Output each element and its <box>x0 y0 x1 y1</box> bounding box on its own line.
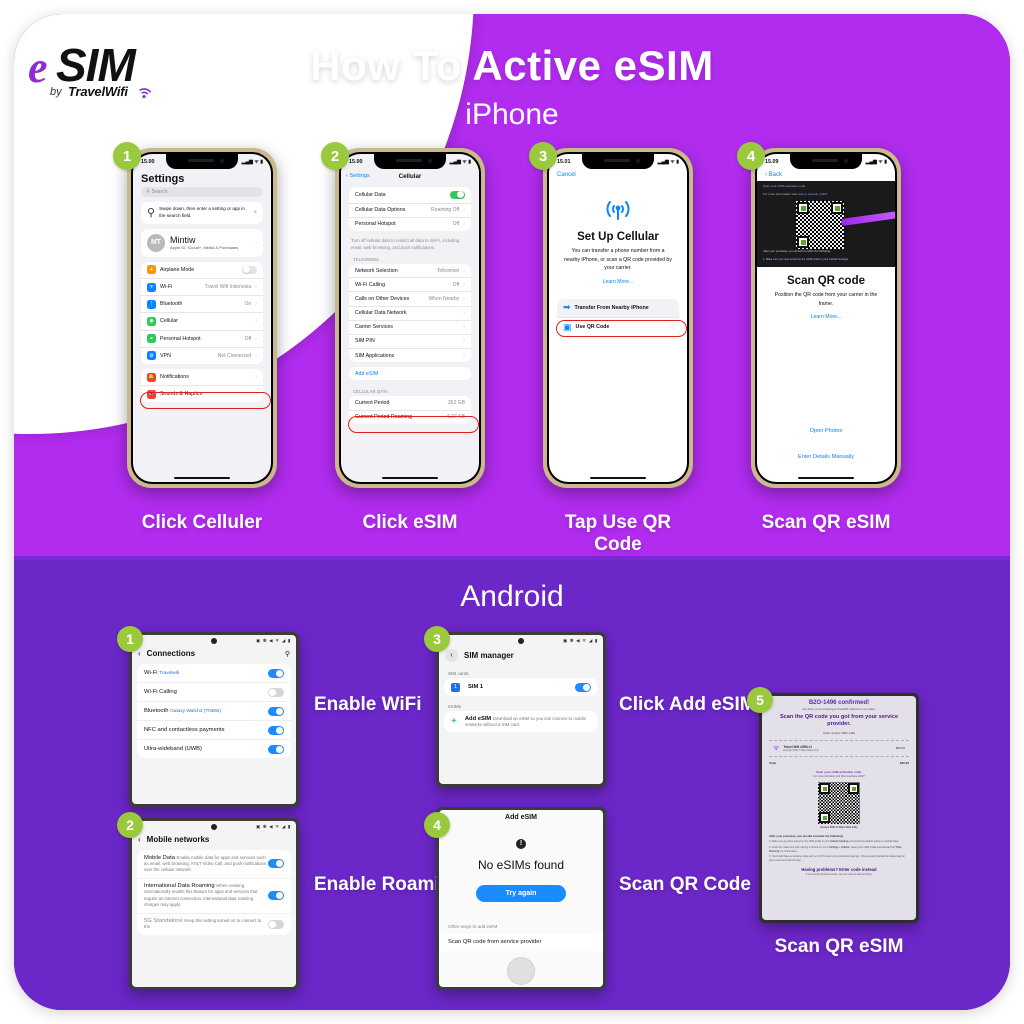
android-status-bar: ▣ ✽ ◀ ᯤ ◢ ▮ <box>132 821 296 832</box>
chevron-right-icon: › <box>255 374 257 380</box>
qr-code-graphic <box>796 201 844 249</box>
row-title: Add eSIM <box>465 716 491 722</box>
step-badge-iphone-1: 1 <box>113 142 141 170</box>
step-badge-iphone-2: 2 <box>321 142 349 170</box>
carrier-section-label: TELKOMSEL <box>341 253 479 264</box>
magnifier-icon: ⚲ <box>147 206 155 219</box>
sim-manager-appbar: ‹ SIM manager <box>439 646 603 668</box>
roaming-toggle[interactable] <box>268 891 284 900</box>
uwb-toggle[interactable] <box>268 745 284 754</box>
chevron-right-icon: › <box>463 282 465 288</box>
info-icon: ! <box>439 839 603 849</box>
mobile-networks-list: Mobile Data Enable mobile data for apps … <box>137 850 291 935</box>
chevron-right-icon: › <box>671 305 673 311</box>
android-step-4-mock: Add eSIM ! No eSIMs found Try again Othe… <box>436 807 606 990</box>
airplane-icon: ✈ <box>147 265 156 274</box>
qr-code-graphic <box>818 782 860 824</box>
cellular-data-card: Cellular Data Cellular Data Options Roam… <box>349 187 471 231</box>
cellular-hint-text: Turn off cellular data to restrict all d… <box>341 236 479 253</box>
notifications-card: 🔔 Notifications › 🔊 Sounds & Haptics › <box>141 369 263 402</box>
other-ways-label: Other ways to add eSIM <box>439 924 603 933</box>
status-icons: ▂▄▆ ᯤ ▮ <box>658 159 679 165</box>
home-indicator <box>382 477 438 480</box>
android-row-wifi-calling[interactable]: Wi-Fi Calling <box>137 683 291 702</box>
hotspot-icon: ⚭ <box>147 334 156 343</box>
row-label: Wi-Fi <box>160 284 201 290</box>
search-tip-card: ⚲ Swipe down, then enter a setting or ap… <box>141 202 263 224</box>
camera-punch-hole <box>518 638 524 644</box>
chevron-right-icon: › <box>255 240 257 246</box>
row-label: SIM PIN <box>355 338 459 344</box>
row-label: Current Period <box>355 400 444 406</box>
status-icons: ▂▄▆ ᯤ ▮ <box>866 159 887 165</box>
setup-cellular-body: You can transfer a phone number from a n… <box>549 243 687 277</box>
iphone-section-title: iPhone <box>14 98 1010 132</box>
step-badge-iphone-4: 4 <box>737 142 765 170</box>
iphone-caption-2: Click eSIM <box>335 512 485 534</box>
qr-caption: Europe 5GB 14 Days Data Only <box>769 826 909 829</box>
row-carrier-services[interactable]: Carrier Services › <box>349 321 471 335</box>
row-label: Notifications <box>160 374 251 380</box>
back-button[interactable]: ‹ Back <box>757 169 895 181</box>
chevron-right-icon: › <box>463 353 465 359</box>
row-title: SIM 1 <box>468 684 483 690</box>
row-title: Bluetooth <box>144 708 169 714</box>
row-value: Off <box>453 221 460 227</box>
settings-row-wifi[interactable]: ᯤ Wi-Fi Travel Wifi Indonesia › <box>141 279 263 296</box>
row-current-period: Current Period 262 GB <box>349 396 471 410</box>
total-label: Total <box>769 761 776 765</box>
5g-standalone-toggle[interactable] <box>268 920 284 929</box>
row-current-period-roaming: Current Period Roaming 6,37 KB <box>349 411 471 424</box>
page-title: How To Active eSIM <box>14 42 1010 90</box>
android-row-5g-standalone[interactable]: 5G Standalone Keep this setting turned o… <box>137 914 291 935</box>
chevron-right-icon: › <box>671 324 673 330</box>
row-label: Current Period Roaming <box>355 414 443 420</box>
step-badge-android-1: 1 <box>117 626 143 652</box>
iphone-caption-4: Scan QR eSIM <box>751 512 901 534</box>
after-purchase-title: After your purchase, you should consider… <box>769 834 909 838</box>
row-label: Carrier Services <box>355 324 459 330</box>
row-title: International Data Roaming <box>144 883 215 889</box>
notifications-icon: 🔔 <box>147 373 156 382</box>
row-value: Off <box>453 282 460 288</box>
settings-row-vpn[interactable]: ⚙ VPN Not Connected › <box>141 348 263 364</box>
row-label: VPN <box>160 353 214 359</box>
apple-account-row[interactable]: MT Mintiw Apple ID, iCloud+, Media & Pur… <box>141 229 263 257</box>
row-value: Roaming Off <box>431 207 459 213</box>
row-wifi-calling[interactable]: Wi-Fi Calling Off › <box>349 278 471 292</box>
row-subtitle: Travelwifi <box>159 671 179 676</box>
settings-title: Settings <box>133 169 271 187</box>
add-esim-card[interactable]: Add eSIM <box>349 367 471 380</box>
android-caption-4: Scan QR Code <box>619 873 779 896</box>
plus-icon: + <box>451 716 457 727</box>
row-value: When Nearby <box>429 296 460 302</box>
row-label: Personal Hotspot <box>355 221 449 227</box>
step-badge-android-2: 2 <box>117 812 143 838</box>
option-label: Use QR Code <box>576 324 668 330</box>
settings-search-input[interactable]: ⚲ Search <box>141 187 263 197</box>
add-esim-header: Add eSIM <box>439 810 603 823</box>
row-label: Network Selection <box>355 268 433 274</box>
open-photos-link[interactable]: Open Photos <box>757 428 895 434</box>
data-usage-card: Current Period 262 GB Current Period Roa… <box>349 396 471 423</box>
item-price: $30.00 <box>896 746 905 750</box>
account-subtitle: Apple ID, iCloud+, Media & Purchases <box>170 245 250 250</box>
sim1-toggle[interactable] <box>575 683 591 692</box>
back-icon[interactable]: ‹ <box>138 649 141 658</box>
cancel-button[interactable]: Cancel <box>549 169 687 181</box>
settings-row-sounds[interactable]: 🔊 Sounds & Haptics › <box>141 386 263 402</box>
learn-more-link[interactable]: Learn More... <box>757 312 895 320</box>
connections-appbar: ‹ Connections ⚲ <box>132 646 296 664</box>
airplane-toggle[interactable] <box>242 266 257 275</box>
status-icons: ▣ ✽ ◀ ᯤ ◢ ▮ <box>563 638 598 644</box>
iphone-caption-1: Click Celluler <box>127 512 277 534</box>
iphone-step-2-mock: 15.00 ▂▄▆ ᯤ ▮ ‹ Settings Cellular Cellul… <box>335 148 485 488</box>
status-icons: ▣ ✽ ◀ ᯤ ◢ ▮ <box>256 824 291 830</box>
nfc-toggle[interactable] <box>268 726 284 735</box>
home-indicator <box>590 477 646 480</box>
row-network-selection[interactable]: Network Selection Telkomsel › <box>349 264 471 278</box>
settings-row-personal-hotspot[interactable]: ⚭ Personal Hotspot Off › <box>141 331 263 348</box>
chevron-right-icon: › <box>463 338 465 344</box>
ios-status-bar: 15.09 ▂▄▆ ᯤ ▮ <box>757 154 895 169</box>
chevron-right-icon: › <box>463 221 465 227</box>
chevron-right-icon: › <box>255 318 257 324</box>
status-time: 15.00 <box>349 159 363 165</box>
row-value: Off <box>245 336 252 342</box>
row-label: Cellular Data Options <box>355 207 427 213</box>
row-cellular-data-network[interactable]: Cellular Data Network › <box>349 307 471 321</box>
status-time: 15.09 <box>765 159 779 165</box>
add-esim-list: + Add eSIM Download an eSIM so you can c… <box>444 711 598 732</box>
row-sim-applications[interactable]: SIM Applications › <box>349 349 471 362</box>
bluetooth-icon: ᛏ <box>147 300 156 309</box>
android-row-international-roaming[interactable]: International Data Roaming When roaming … <box>137 879 291 914</box>
total-price: $30.00 <box>900 761 909 765</box>
row-subtitle: Galaxy Watch4 (TNBW) <box>170 709 221 714</box>
search-tip-text: Swipe down, then enter a setting or app … <box>159 206 249 220</box>
row-label: Calls on Other Devices <box>355 296 425 302</box>
avatar: MT <box>147 234 165 252</box>
row-transfer-from-nearby-iphone[interactable]: ➡ Transfer From Nearby iPhone › <box>557 299 679 318</box>
android-step-3-mock: ▣ ✽ ◀ ᯤ ◢ ▮ ‹ SIM manager SIM cards 1 SI… <box>436 632 606 787</box>
row-use-qr-code[interactable]: ▣ Use QR Code › <box>557 318 679 336</box>
back-icon[interactable]: ‹ <box>138 835 141 844</box>
status-time: 15.01 <box>557 159 571 165</box>
iphone-caption-3: Tap Use QR Code <box>543 512 693 556</box>
row-value: 262 GB <box>448 400 465 406</box>
iphone-step-4-mock: 15.09 ▂▄▆ ᯤ ▮ ‹ Back Scan your eSIM acti… <box>751 148 901 488</box>
cellular-data-section-label: CELLULAR DATA <box>341 385 479 396</box>
vpn-icon: ⚙ <box>147 351 156 360</box>
android-row-wifi[interactable]: Wi-Fi Travelwifi <box>137 664 291 683</box>
item-description: Europe 5GB 7 Days Data Only <box>783 749 891 752</box>
cellular-icon: ◉ <box>147 317 156 326</box>
row-label: Bluetooth <box>160 301 240 307</box>
search-icon: ⚲ <box>146 189 150 195</box>
no-esims-found-title: No eSIMs found <box>439 858 603 872</box>
appbar-title: Mobile networks <box>147 835 210 844</box>
row-value: Telkomsel <box>437 268 459 274</box>
appbar-title: SIM manager <box>464 651 514 660</box>
home-indicator <box>798 477 854 480</box>
mobile-data-toggle[interactable] <box>268 859 284 868</box>
camera-punch-hole <box>211 638 217 644</box>
row-title: Wi-Fi Calling <box>144 689 177 695</box>
chevron-right-icon: › <box>463 310 465 316</box>
status-icons: ▣ ✽ ◀ ᯤ ◢ ▮ <box>256 638 291 644</box>
back-button[interactable]: ‹ Settings <box>346 173 370 179</box>
row-label: Personal Hotspot <box>160 336 241 342</box>
qr-info-text: For more information visit How to activa… <box>769 775 909 778</box>
enter-details-manually-link[interactable]: Enter Details Manually <box>757 454 895 460</box>
chevron-right-icon: › <box>463 268 465 274</box>
chevron-right-icon: › <box>255 284 257 290</box>
scan-beam <box>841 211 895 226</box>
chevron-right-icon: › <box>463 207 465 213</box>
scan-qr-body: Position the QR code from your carrier i… <box>757 287 895 312</box>
android-row-mobile-data[interactable]: Mobile Data Enable mobile data for apps … <box>137 850 291 879</box>
qr-camera-viewfinder: Scan your eSIM activation code. For more… <box>757 181 895 267</box>
android-row-add-esim[interactable]: + Add eSIM Download an eSIM so you can c… <box>444 711 598 732</box>
tap-ripple-indicator <box>507 957 535 985</box>
chevron-right-icon: › <box>255 353 257 359</box>
trouble-link[interactable]: Having problems? Enter code instead <box>769 867 909 872</box>
back-icon[interactable]: ‹ <box>445 649 458 662</box>
step-badge-android-5: 5 <box>747 687 773 713</box>
wifi-signal-icon: ᯤ <box>773 744 779 753</box>
order-confirmation-page: B2O-1496 confirmed! Hey there! you're sh… <box>762 696 916 880</box>
row-cellular-data-options[interactable]: Cellular Data Options Roaming Off › <box>349 204 471 218</box>
home-indicator <box>174 477 230 480</box>
try-again-button[interactable]: Try again <box>476 885 567 902</box>
row-value: Not Connected <box>218 353 251 359</box>
wifi-icon: ᯤ <box>147 283 156 292</box>
row-label: Sounds & Haptics <box>160 391 251 397</box>
qr-scan-label: Scan your eSIM activation code. <box>769 770 909 774</box>
iphone-step-3-mock: 15.01 ▂▄▆ ᯤ ▮ Cancel Set Up Cellular You… <box>543 148 693 488</box>
setup-cellular-title: Set Up Cellular <box>549 231 687 243</box>
row-title: Mobile Data <box>144 855 175 861</box>
search-icon[interactable]: ⚲ <box>285 650 290 658</box>
scan-qr-row[interactable]: Scan QR code from service provider <box>439 933 603 951</box>
appbar-title: Connections <box>147 649 195 658</box>
status-time: 15.00 <box>141 159 155 165</box>
row-value: On <box>244 301 251 307</box>
android-caption-5: Scan QR eSIM <box>759 935 919 958</box>
sim-cards-section-label: SIM cards <box>439 668 603 678</box>
row-sim-pin[interactable]: SIM PIN › <box>349 335 471 349</box>
row-label: Cellular Data Network <box>355 310 459 316</box>
status-icons: ▂▄▆ ᯤ ▮ <box>242 159 263 165</box>
settings-row-airplane-mode[interactable]: ✈ Airplane Mode <box>141 262 263 279</box>
scan-headline: Scan the QR code you got from your servi… <box>769 714 909 728</box>
setup-options-card: ➡ Transfer From Nearby iPhone › ▣ Use QR… <box>557 299 679 336</box>
row-label: Airplane Mode <box>160 267 238 273</box>
row-cellular-data[interactable]: Cellular Data <box>349 187 471 204</box>
connectivity-card: ✈ Airplane Mode ᯤ Wi-Fi Travel Wifi Indo… <box>141 262 263 364</box>
navbar-title: Cellular <box>399 173 422 180</box>
esims-section-label: eSIMs <box>439 701 603 711</box>
order-confirmed-title: B2O-1496 confirmed! <box>769 700 909 706</box>
row-label: SIM Applications <box>355 353 459 359</box>
settings-row-notifications[interactable]: 🔔 Notifications › <box>141 369 263 386</box>
scan-qr-title: Scan QR code <box>757 275 895 287</box>
settings-row-cellular[interactable]: ◉ Cellular › <box>141 313 263 330</box>
sim-cards-list: 1 SIM 1 <box>444 678 598 696</box>
order-number: Order number: B2O-1496 <box>769 731 909 735</box>
android-row-sim1[interactable]: 1 SIM 1 <box>444 678 598 696</box>
step-badge-android-4: 4 <box>424 812 450 838</box>
chevron-right-icon: › <box>463 296 465 302</box>
android-row-bluetooth[interactable]: Bluetooth Galaxy Watch4 (TNBW) <box>137 702 291 721</box>
row-value: Travel Wifi Indonesia <box>205 284 252 290</box>
account-name: Mintiw <box>170 235 250 245</box>
row-label: Cellular Data <box>355 192 446 198</box>
close-icon[interactable]: × <box>253 210 257 216</box>
row-label: Wi-Fi Calling <box>355 282 449 288</box>
sounds-icon: 🔊 <box>147 390 156 399</box>
settings-row-bluetooth[interactable]: ᛏ Bluetooth On › <box>141 296 263 313</box>
cellular-data-toggle[interactable] <box>450 191 465 200</box>
cellular-navbar: ‹ Settings Cellular <box>341 169 479 183</box>
chevron-right-icon: › <box>255 336 257 342</box>
bluetooth-toggle[interactable] <box>268 707 284 716</box>
android-row-uwb[interactable]: Ultra-wideband (UWB) <box>137 740 291 758</box>
status-icons: ▂▄▆ ᯤ ▮ <box>450 159 471 165</box>
chevron-right-icon: › <box>255 391 257 397</box>
learn-more-link[interactable]: Learn More... <box>549 277 687 285</box>
carrier-settings-card: Network Selection Telkomsel › Wi-Fi Call… <box>349 264 471 362</box>
camera-punch-hole <box>211 824 217 830</box>
android-step-5-mock: B2O-1496 confirmed! Hey there! you're sh… <box>759 693 919 923</box>
row-title: 5G Standalone <box>144 918 183 924</box>
row-add-esim[interactable]: Add eSIM <box>349 367 471 380</box>
row-calls-other-devices[interactable]: Calls on Other Devices When Nearby › <box>349 292 471 306</box>
row-title: Wi-Fi <box>144 670 158 676</box>
chevron-right-icon: › <box>463 324 465 330</box>
row-personal-hotspot[interactable]: Personal Hotspot Off › <box>349 218 471 231</box>
android-status-bar: ▣ ✽ ◀ ᯤ ◢ ▮ <box>439 635 603 646</box>
ios-status-bar: 15.00 ▂▄▆ ᯤ ▮ <box>341 154 479 169</box>
connections-list: Wi-Fi Travelwifi Wi-Fi Calling Bluetooth… <box>137 664 291 758</box>
android-step-2-mock: ▣ ✽ ◀ ᯤ ◢ ▮ ‹ Mobile networks Mobile Dat… <box>129 818 299 990</box>
step-badge-iphone-3: 3 <box>529 142 557 170</box>
android-step-1-mock: ▣ ✽ ◀ ᯤ ◢ ▮ ‹ Connections ⚲ Wi-Fi Travel… <box>129 632 299 807</box>
row-label: Cellular <box>160 318 251 324</box>
row-value: 6,37 KB <box>447 414 465 420</box>
ios-status-bar: 15.00 ▂▄▆ ᯤ ▮ <box>133 154 271 169</box>
qr-code-icon: ▣ <box>563 322 572 333</box>
wifi-calling-toggle[interactable] <box>268 688 284 697</box>
chevron-right-icon: › <box>255 301 257 307</box>
step-badge-android-3: 3 <box>424 626 450 652</box>
sim-slot-icon: 1 <box>451 683 460 692</box>
android-row-nfc[interactable]: NFC and contactless payments <box>137 721 291 740</box>
option-label: Transfer From Nearby iPhone <box>575 305 668 311</box>
android-section-title: Android <box>14 580 1010 614</box>
add-esim-label: Add eSIM <box>355 371 465 377</box>
ios-status-bar: 15.01 ▂▄▆ ᯤ ▮ <box>549 154 687 169</box>
transfer-icon: ➡ <box>563 302 571 313</box>
mobile-networks-appbar: ‹ Mobile networks <box>132 832 296 850</box>
iphone-step-1-mock: 15.00 ▂▄▆ ᯤ ▮ Settings ⚲ Search ⚲ Swipe … <box>127 148 277 488</box>
search-placeholder: Search <box>152 189 168 195</box>
android-status-bar: ▣ ✽ ◀ ᯤ ◢ ▮ <box>132 635 296 646</box>
cellular-antenna-icon <box>549 197 687 225</box>
wifi-toggle[interactable] <box>268 669 284 678</box>
row-title: Ultra-wideband (UWB) <box>144 746 202 752</box>
infographic-card: e SIM by TravelWifi How To Active eSIM i… <box>14 14 1010 1010</box>
row-title: NFC and contactless payments <box>144 727 225 733</box>
